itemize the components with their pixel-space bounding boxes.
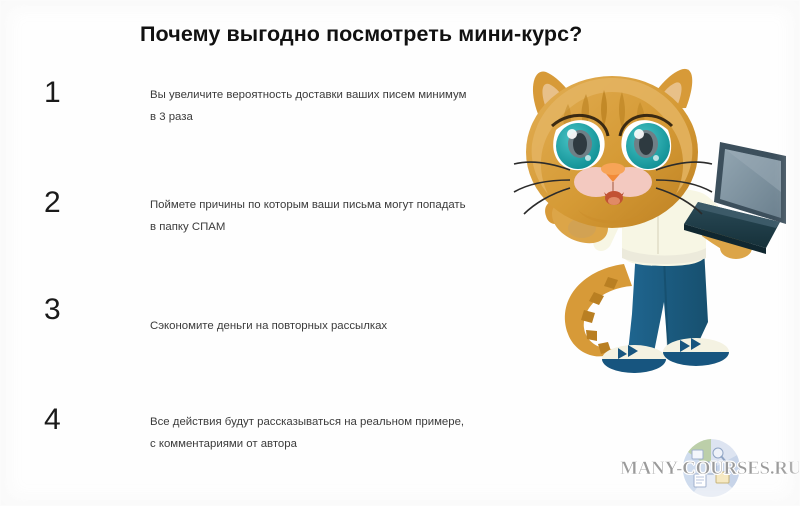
cat-tail: [565, 264, 632, 356]
benefit-text-1-line1: Вы увеличите вероятность доставки ваших …: [150, 84, 495, 106]
benefit-text-2-line2: в папку СПАМ: [150, 216, 495, 238]
benefit-text-4: Все действия будут рассказываться на реа…: [150, 411, 495, 455]
benefit-text-3-line1: Сэкономите деньги на повторных рассылках: [150, 315, 495, 337]
benefit-number-3: 3: [44, 295, 61, 325]
benefit-number-2: 2: [44, 188, 61, 218]
page-title: Почему выгодно посмотреть мини-курс?: [140, 22, 660, 47]
benefit-text-1: Вы увеличите вероятность доставки ваших …: [150, 84, 495, 128]
benefit-text-2-line1: Поймете причины по которым ваши письма м…: [150, 194, 495, 216]
benefit-text-3: Сэкономите деньги на повторных рассылках: [150, 315, 495, 337]
cat-shoes: [602, 338, 729, 373]
watermark-text: MANY-COURSES.RU: [620, 458, 798, 480]
cat-mascot-illustration: [508, 52, 798, 377]
benefit-text-4-line1: Все действия будут рассказываться на реа…: [150, 411, 495, 433]
slide-canvas: Почему выгодно посмотреть мини-курс? 1 В…: [0, 0, 800, 506]
benefit-text-1-line2: в 3 раза: [150, 106, 495, 128]
watermark: MANY-COURSES.RU: [618, 436, 798, 502]
benefit-number-4: 4: [44, 405, 61, 435]
benefit-text-2: Поймете причины по которым ваши письма м…: [150, 194, 495, 238]
benefit-number-1: 1: [44, 78, 61, 108]
benefit-text-4-line2: с комментариями от автора: [150, 433, 495, 455]
